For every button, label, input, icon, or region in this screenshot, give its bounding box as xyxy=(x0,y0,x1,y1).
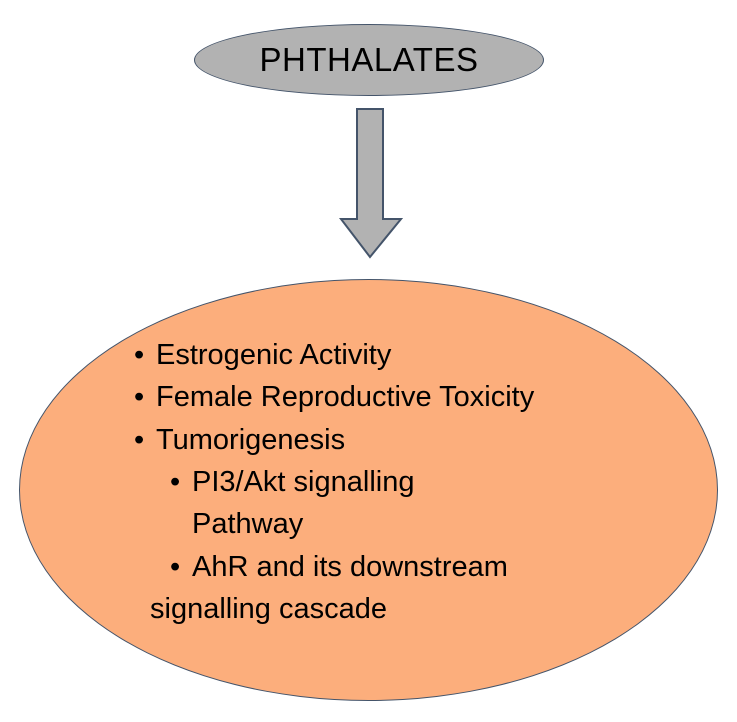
list-item-label: AhR and its downstream xyxy=(192,546,508,588)
bullet-icon: • xyxy=(134,376,156,418)
list-item-continuation: signalling cascade xyxy=(134,588,664,630)
effects-list: • Estrogenic Activity • Female Reproduct… xyxy=(134,334,664,630)
list-item-label: Estrogenic Activity xyxy=(156,334,391,376)
node-phthalates-label: PHTHALATES xyxy=(260,43,479,76)
bullet-icon: • xyxy=(134,419,156,461)
list-item: • AhR and its downstream xyxy=(134,546,664,588)
down-arrow-icon xyxy=(330,106,410,262)
bullet-icon: • xyxy=(170,461,192,503)
diagram-canvas: PHTHALATES • Estrogenic Activity • Femal… xyxy=(0,0,737,722)
node-phthalates: PHTHALATES xyxy=(194,24,544,96)
bullet-icon: • xyxy=(170,546,192,588)
list-item-label: PI3/Akt signalling xyxy=(192,461,414,503)
node-effects: • Estrogenic Activity • Female Reproduct… xyxy=(19,279,718,701)
list-item-label: Tumorigenesis xyxy=(156,419,345,461)
list-item: • PI3/Akt signalling xyxy=(134,461,664,503)
list-item: • Female Reproductive Toxicity xyxy=(134,376,664,418)
list-item: • Estrogenic Activity xyxy=(134,334,664,376)
list-item-continuation: Pathway xyxy=(134,503,664,545)
bullet-icon: • xyxy=(134,334,156,376)
list-item-label: Female Reproductive Toxicity xyxy=(156,376,534,418)
list-item: • Tumorigenesis xyxy=(134,419,664,461)
